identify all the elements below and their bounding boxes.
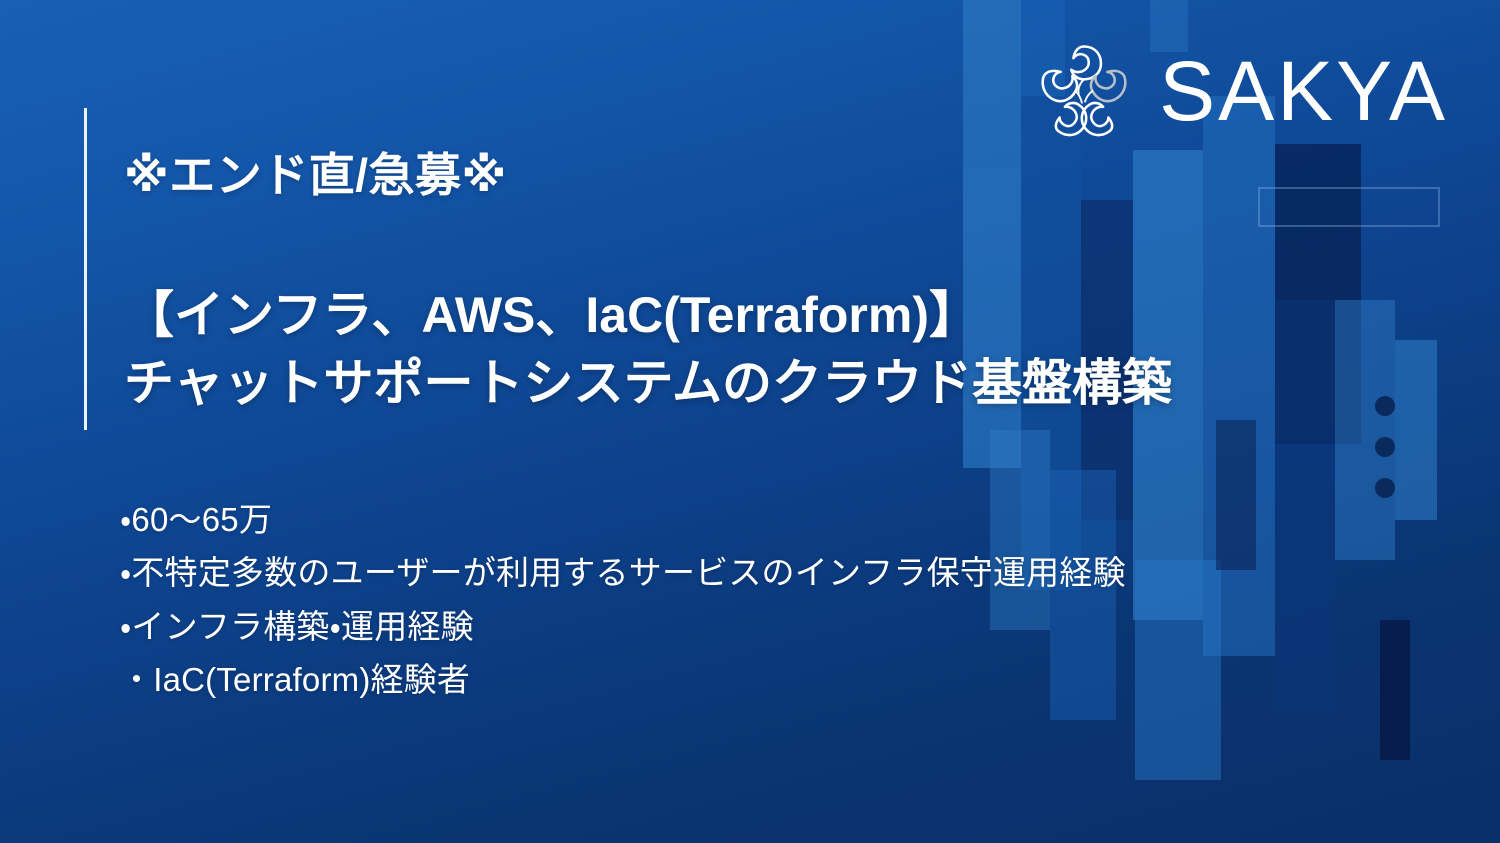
sakya-wordmark: SAKYA (1159, 49, 1448, 133)
kicker-text: ※エンド直/急募※ (124, 150, 507, 201)
decor-dot (1375, 396, 1395, 416)
decor-bar (1335, 300, 1395, 560)
decor-bar (1275, 300, 1335, 710)
page-title-line-2: チャットサポートシステムのクラウド基盤構築 (124, 350, 1172, 418)
decor-bar (1203, 96, 1275, 656)
requirements-list: ・60〜65万 ・不特定多数のユーザーが利用するサービスのインフラ保守運用経験 … (120, 493, 1126, 707)
slide-canvas: ※エンド直/急募※ 【インフラ、AWS、IaC(Terraform)】 チャット… (0, 0, 1500, 843)
page-title: 【インフラ、AWS、IaC(Terraform)】 チャットサポートシステムのク… (124, 282, 1172, 417)
list-item: ・インフラ構築・運用経験 (120, 600, 1126, 653)
decor-bar (1380, 620, 1410, 760)
decor-bar (963, 0, 1021, 168)
sakya-logo: SAKYA (1031, 38, 1448, 144)
sakya-pinwheel-icon (1031, 38, 1137, 144)
left-accent-rule (84, 108, 87, 430)
decor-dot (1375, 478, 1395, 498)
decor-dot (1375, 437, 1395, 457)
decor-bar (1395, 340, 1437, 520)
decor-bar (1216, 420, 1256, 570)
decor-bar (1275, 144, 1361, 444)
list-item: ・IaC(Terraform)経験者 (120, 653, 1126, 706)
list-item: ・60〜65万 (120, 493, 1126, 546)
page-title-line-1: 【インフラ、AWS、IaC(Terraform)】 (124, 282, 1172, 350)
decor-outline-rectangle (1258, 187, 1440, 227)
decor-bar (1135, 560, 1221, 780)
list-item: ・不特定多数のユーザーが利用するサービスのインフラ保守運用経験 (120, 546, 1126, 599)
